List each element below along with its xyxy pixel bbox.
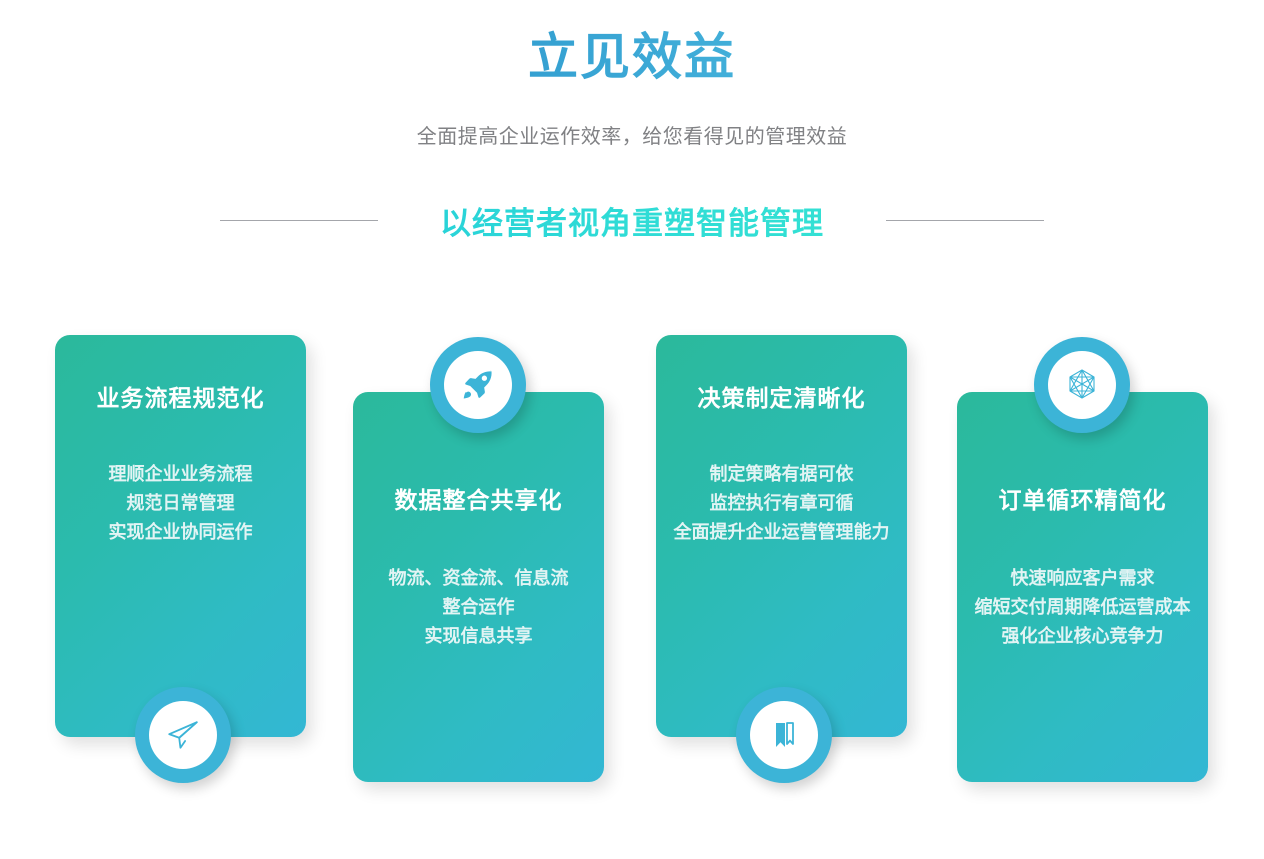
benefits-section: 立见效益 全面提高企业运作效率，给您看得见的管理效益 以经营者视角重塑智能管理 …	[0, 0, 1264, 859]
feature-card-body: 制定策略有据可依 监控执行有章可循 全面提升企业运营管理能力	[670, 460, 893, 547]
hexagon-network-icon	[1064, 367, 1100, 403]
paper-plane-icon	[166, 718, 200, 752]
badge-face	[1048, 351, 1116, 419]
feature-card-body: 快速响应客户需求 缩短交付周期降低运营成本 强化企业核心竞争力	[971, 564, 1194, 651]
rocket-icon	[461, 368, 495, 402]
feature-card-title: 数据整合共享化	[353, 481, 604, 515]
bookmark-icon	[768, 719, 800, 751]
badge-face	[444, 351, 512, 419]
feature-card-grid: 业务流程规范化 理顺企业业务流程 规范日常管理 实现企业协同运作	[0, 0, 1264, 859]
feature-card-title: 业务流程规范化	[55, 379, 306, 413]
feature-card-badge	[430, 337, 526, 433]
feature-card-badge	[1034, 337, 1130, 433]
feature-card[interactable]: 业务流程规范化 理顺企业业务流程 规范日常管理 实现企业协同运作	[55, 335, 306, 737]
feature-card-body: 物流、资金流、信息流 整合运作 实现信息共享	[367, 564, 590, 651]
badge-face	[149, 701, 217, 769]
badge-face	[750, 701, 818, 769]
feature-card-title: 订单循环精简化	[957, 481, 1208, 515]
feature-card-badge	[135, 687, 231, 783]
feature-card[interactable]: 决策制定清晰化 制定策略有据可依 监控执行有章可循 全面提升企业运营管理能力	[656, 335, 907, 737]
feature-card-body: 理顺企业业务流程 规范日常管理 实现企业协同运作	[69, 460, 292, 547]
feature-card[interactable]: 订单循环精简化 快速响应客户需求 缩短交付周期降低运营成本 强化企业核心竞争力	[957, 392, 1208, 782]
feature-card[interactable]: 数据整合共享化 物流、资金流、信息流 整合运作 实现信息共享	[353, 392, 604, 782]
feature-card-badge	[736, 687, 832, 783]
feature-card-title: 决策制定清晰化	[656, 379, 907, 413]
